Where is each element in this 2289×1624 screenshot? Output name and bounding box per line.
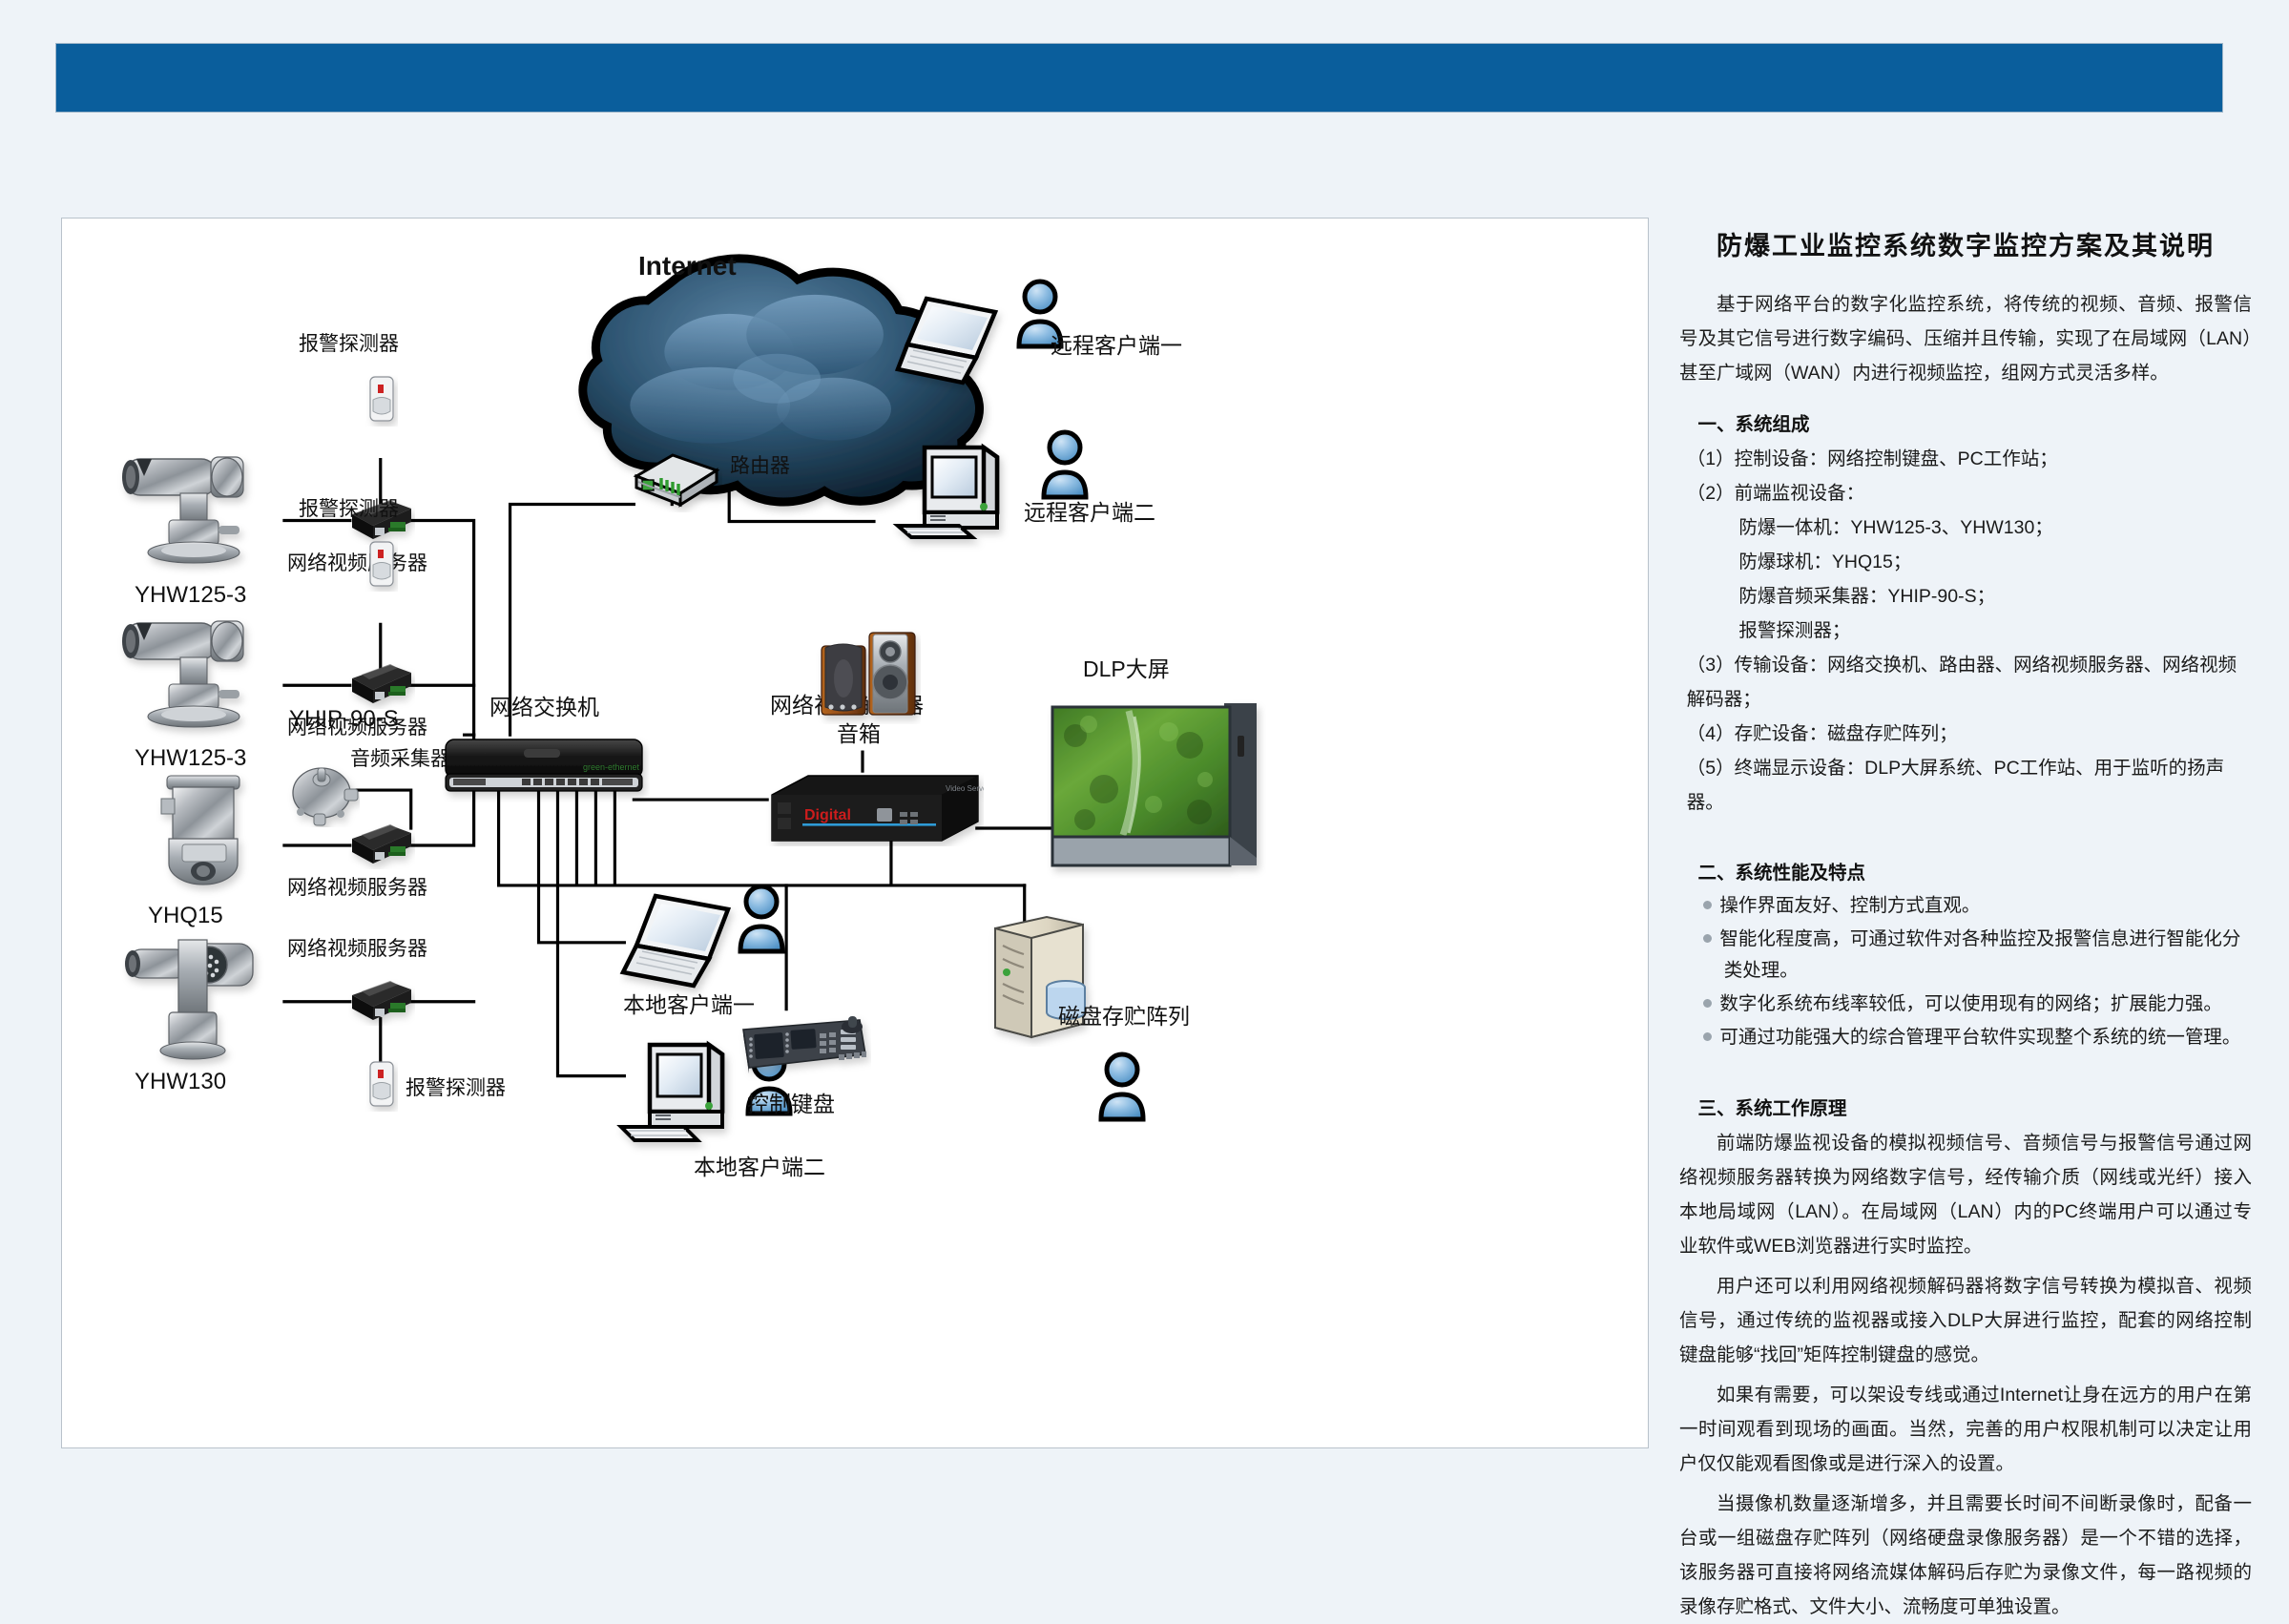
device-alarm-detector-1[interactable] <box>365 375 398 431</box>
section-1-subitem-4: 报警探测器； <box>1679 614 2252 648</box>
device-disk-array[interactable] <box>986 913 1096 1051</box>
section-2-bullet-4: 可通过功能强大的综合管理平台软件实现整个系统的统一管理。 <box>1679 1022 2252 1053</box>
label-speakers: 音箱 <box>837 722 881 746</box>
label-video-server-1: 网络视频服务器 <box>287 552 427 574</box>
label-network-switch: 网络交换机 <box>489 696 599 719</box>
device-speakers[interactable] <box>816 619 921 729</box>
bullet-dot-icon <box>1703 999 1712 1008</box>
label-control-keyboard: 控制键盘 <box>747 1093 835 1116</box>
header-bar <box>55 43 2223 113</box>
bullet-dot-icon <box>1703 934 1712 943</box>
device-dlp-screen[interactable] <box>1047 697 1266 884</box>
device-dome-camera-yhq15[interactable] <box>140 762 274 910</box>
label-alarm-detector-3: 报警探测器 <box>406 1077 506 1099</box>
section-1-item-5: （5）终端显示设备：DLP大屏系统、PC工作站、用于监听的扬声器。 <box>1679 751 2252 820</box>
label-camera-yhw130: YHW130 <box>135 1070 226 1094</box>
label-local-client-1: 本地客户端一 <box>623 993 755 1017</box>
section-2-bullet-3: 数字化系统布线率较低，可以使用现有的网络；扩展能力强。 <box>1679 989 2252 1020</box>
section-1-item-3: （3）传输设备：网络交换机、路由器、网络视频服务器、网络视频解码器； <box>1679 648 2252 717</box>
label-disk-array: 磁盘存贮阵列 <box>1058 1005 1190 1029</box>
label-alarm-detector-2: 报警探测器 <box>299 498 399 520</box>
label-remote-client-2: 远程客户端二 <box>1024 501 1155 525</box>
section-1-item-1: （1）控制设备：网络控制键盘、PC工作站； <box>1679 442 2252 476</box>
device-video-server-4[interactable] <box>348 978 415 1031</box>
device-video-server-3[interactable] <box>348 822 415 874</box>
section-2-bullet-2-text: 智能化程度高，可通过软件对各种监控及报警信息进行智能化分类处理。 <box>1719 928 2240 981</box>
label-alarm-detector-1: 报警探测器 <box>299 333 399 355</box>
label-router: 路由器 <box>730 455 790 477</box>
section-1-subitem-2: 防爆球机：YHQ15； <box>1679 545 2252 579</box>
device-camera-yhw125-3-second[interactable] <box>112 602 283 750</box>
device-local-client-2-desktop[interactable] <box>615 1035 757 1164</box>
label-local-client-2: 本地客户端二 <box>694 1156 825 1179</box>
section-1-item-2: （2）前端监视设备： <box>1679 476 2252 510</box>
svg-text:Video Server: Video Server <box>946 784 984 793</box>
label-internet: Internet <box>638 252 737 281</box>
device-camera-yhw125-3-top[interactable] <box>112 438 283 586</box>
section-2-bullet-2: 智能化程度高，可通过软件对各种监控及报警信息进行智能化分类处理。 <box>1679 924 2252 987</box>
label-video-server-4: 网络视频服务器 <box>287 938 427 960</box>
section-2-bullet-1: 操作界面友好、控制方式直观。 <box>1679 890 2252 922</box>
device-network-switch[interactable]: green-ethernet <box>440 734 650 807</box>
label-audio-collector-model: YHIP-90-S <box>289 707 399 732</box>
intro-paragraph: 基于网络平台的数字化监控系统，将传统的视频、音频、报警信号及其它信号进行数字编码… <box>1679 287 2252 390</box>
device-camera-yhw130[interactable] <box>112 923 283 1080</box>
device-alarm-detector-3[interactable] <box>365 1060 398 1116</box>
device-remote-client-1-laptop[interactable] <box>894 287 1009 399</box>
network-topology-diagram: YHW125-3 报警探测器 网络视频服务器 <box>61 218 1649 1448</box>
device-control-keyboard[interactable] <box>738 1009 871 1086</box>
avatar-remote-user-2 <box>1039 427 1091 506</box>
section-2-heading: 二、系统性能及特点 <box>1679 856 2252 890</box>
svg-text:green-ethernet: green-ethernet <box>583 762 640 772</box>
bullet-dot-icon <box>1703 901 1712 909</box>
description-panel: 防爆工业监控系统数字监控方案及其说明 基于网络平台的数字化监控系统，将传统的视频… <box>1679 218 2252 1458</box>
label-audio-collector: 音频采集器 <box>350 748 450 770</box>
avatar-local-user-1 <box>736 881 787 960</box>
section-3-paragraph-2: 用户还可以利用网络视频解码器将数字信号转换为模拟音、视频信号，通过传统的监视器或… <box>1679 1269 2252 1372</box>
bullet-dot-icon <box>1703 1032 1712 1041</box>
section-1-subitem-1: 防爆一体机：YHW125-3、YHW130； <box>1679 510 2252 545</box>
section-2-bullet-4-text: 可通过功能强大的综合管理平台软件实现整个系统的统一管理。 <box>1719 1027 2240 1048</box>
section-3-paragraph-3: 如果有需要，可以架设专线或通过Internet让身在远方的用户在第一时间观看到现… <box>1679 1378 2252 1481</box>
section-3-heading: 三、系统工作原理 <box>1679 1092 2252 1126</box>
device-video-decoder[interactable]: Digital Video Server <box>764 770 984 851</box>
document-title: 防爆工业监控系统数字监控方案及其说明 <box>1679 225 2252 262</box>
avatar-operator <box>1096 1049 1148 1128</box>
device-remote-client-2-desktop[interactable] <box>892 438 1028 561</box>
section-1-heading: 一、系统组成 <box>1679 407 2252 442</box>
section-3-paragraph-1: 前端防爆监视设备的模拟视频信号、音频信号与报警信号通过网络视频服务器转换为网络数… <box>1679 1126 2252 1263</box>
device-local-client-1-laptop[interactable] <box>619 886 743 1004</box>
label-remote-client-1: 远程客户端一 <box>1051 334 1182 358</box>
section-2-bullet-1-text: 操作界面友好、控制方式直观。 <box>1719 895 1980 916</box>
label-dlp-screen: DLP大屏 <box>1083 657 1170 681</box>
device-alarm-detector-2[interactable] <box>365 540 398 596</box>
label-video-server-3: 网络视频服务器 <box>287 877 427 899</box>
section-1-item-4: （4）存贮设备：磁盘存贮阵列； <box>1679 717 2252 751</box>
svg-text:Digital: Digital <box>804 807 851 823</box>
section-3-paragraph-4: 当摄像机数量逐渐增多，并且需要长时间不间断录像时，配备一台或一组磁盘存贮阵列（网… <box>1679 1487 2252 1624</box>
section-1-subitem-3: 防爆音频采集器：YHIP-90-S； <box>1679 579 2252 614</box>
section-2-bullet-3-text: 数字化系统布线率较低，可以使用现有的网络；扩展能力强。 <box>1719 993 2222 1014</box>
device-router[interactable] <box>631 448 722 517</box>
